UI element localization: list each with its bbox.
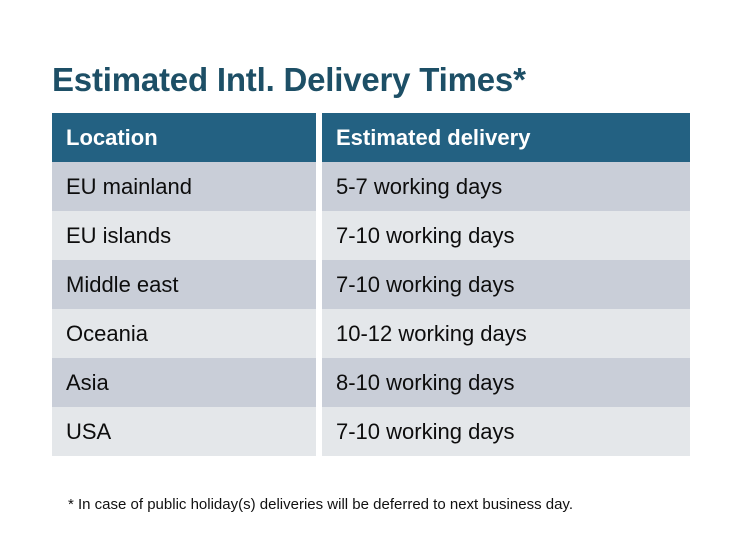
delivery-times-page: Estimated Intl. Delivery Times* Location… (0, 0, 745, 536)
delivery-times-table: Location Estimated delivery EU mainland … (52, 113, 690, 456)
cell-location: EU islands (52, 211, 316, 260)
cell-delivery: 5-7 working days (322, 162, 690, 211)
cell-delivery: 8-10 working days (322, 358, 690, 407)
table-row: Oceania 10-12 working days (52, 309, 690, 358)
table-row: USA 7-10 working days (52, 407, 690, 456)
cell-location: Middle east (52, 260, 316, 309)
column-header-location: Location (52, 113, 316, 162)
table-row: Asia 8-10 working days (52, 358, 690, 407)
cell-delivery: 7-10 working days (322, 407, 690, 456)
cell-location: Oceania (52, 309, 316, 358)
table-row: EU islands 7-10 working days (52, 211, 690, 260)
cell-delivery: 10-12 working days (322, 309, 690, 358)
footnote-text: * In case of public holiday(s) deliverie… (68, 494, 573, 516)
page-title: Estimated Intl. Delivery Times* (52, 58, 526, 102)
table-header: Location Estimated delivery (52, 113, 690, 162)
cell-location: USA (52, 407, 316, 456)
cell-location: EU mainland (52, 162, 316, 211)
cell-delivery: 7-10 working days (322, 260, 690, 309)
table-body: EU mainland 5-7 working days EU islands … (52, 162, 690, 456)
table-row: Middle east 7-10 working days (52, 260, 690, 309)
column-header-delivery: Estimated delivery (322, 113, 690, 162)
table-row: EU mainland 5-7 working days (52, 162, 690, 211)
table-header-row: Location Estimated delivery (52, 113, 690, 162)
cell-delivery: 7-10 working days (322, 211, 690, 260)
cell-location: Asia (52, 358, 316, 407)
